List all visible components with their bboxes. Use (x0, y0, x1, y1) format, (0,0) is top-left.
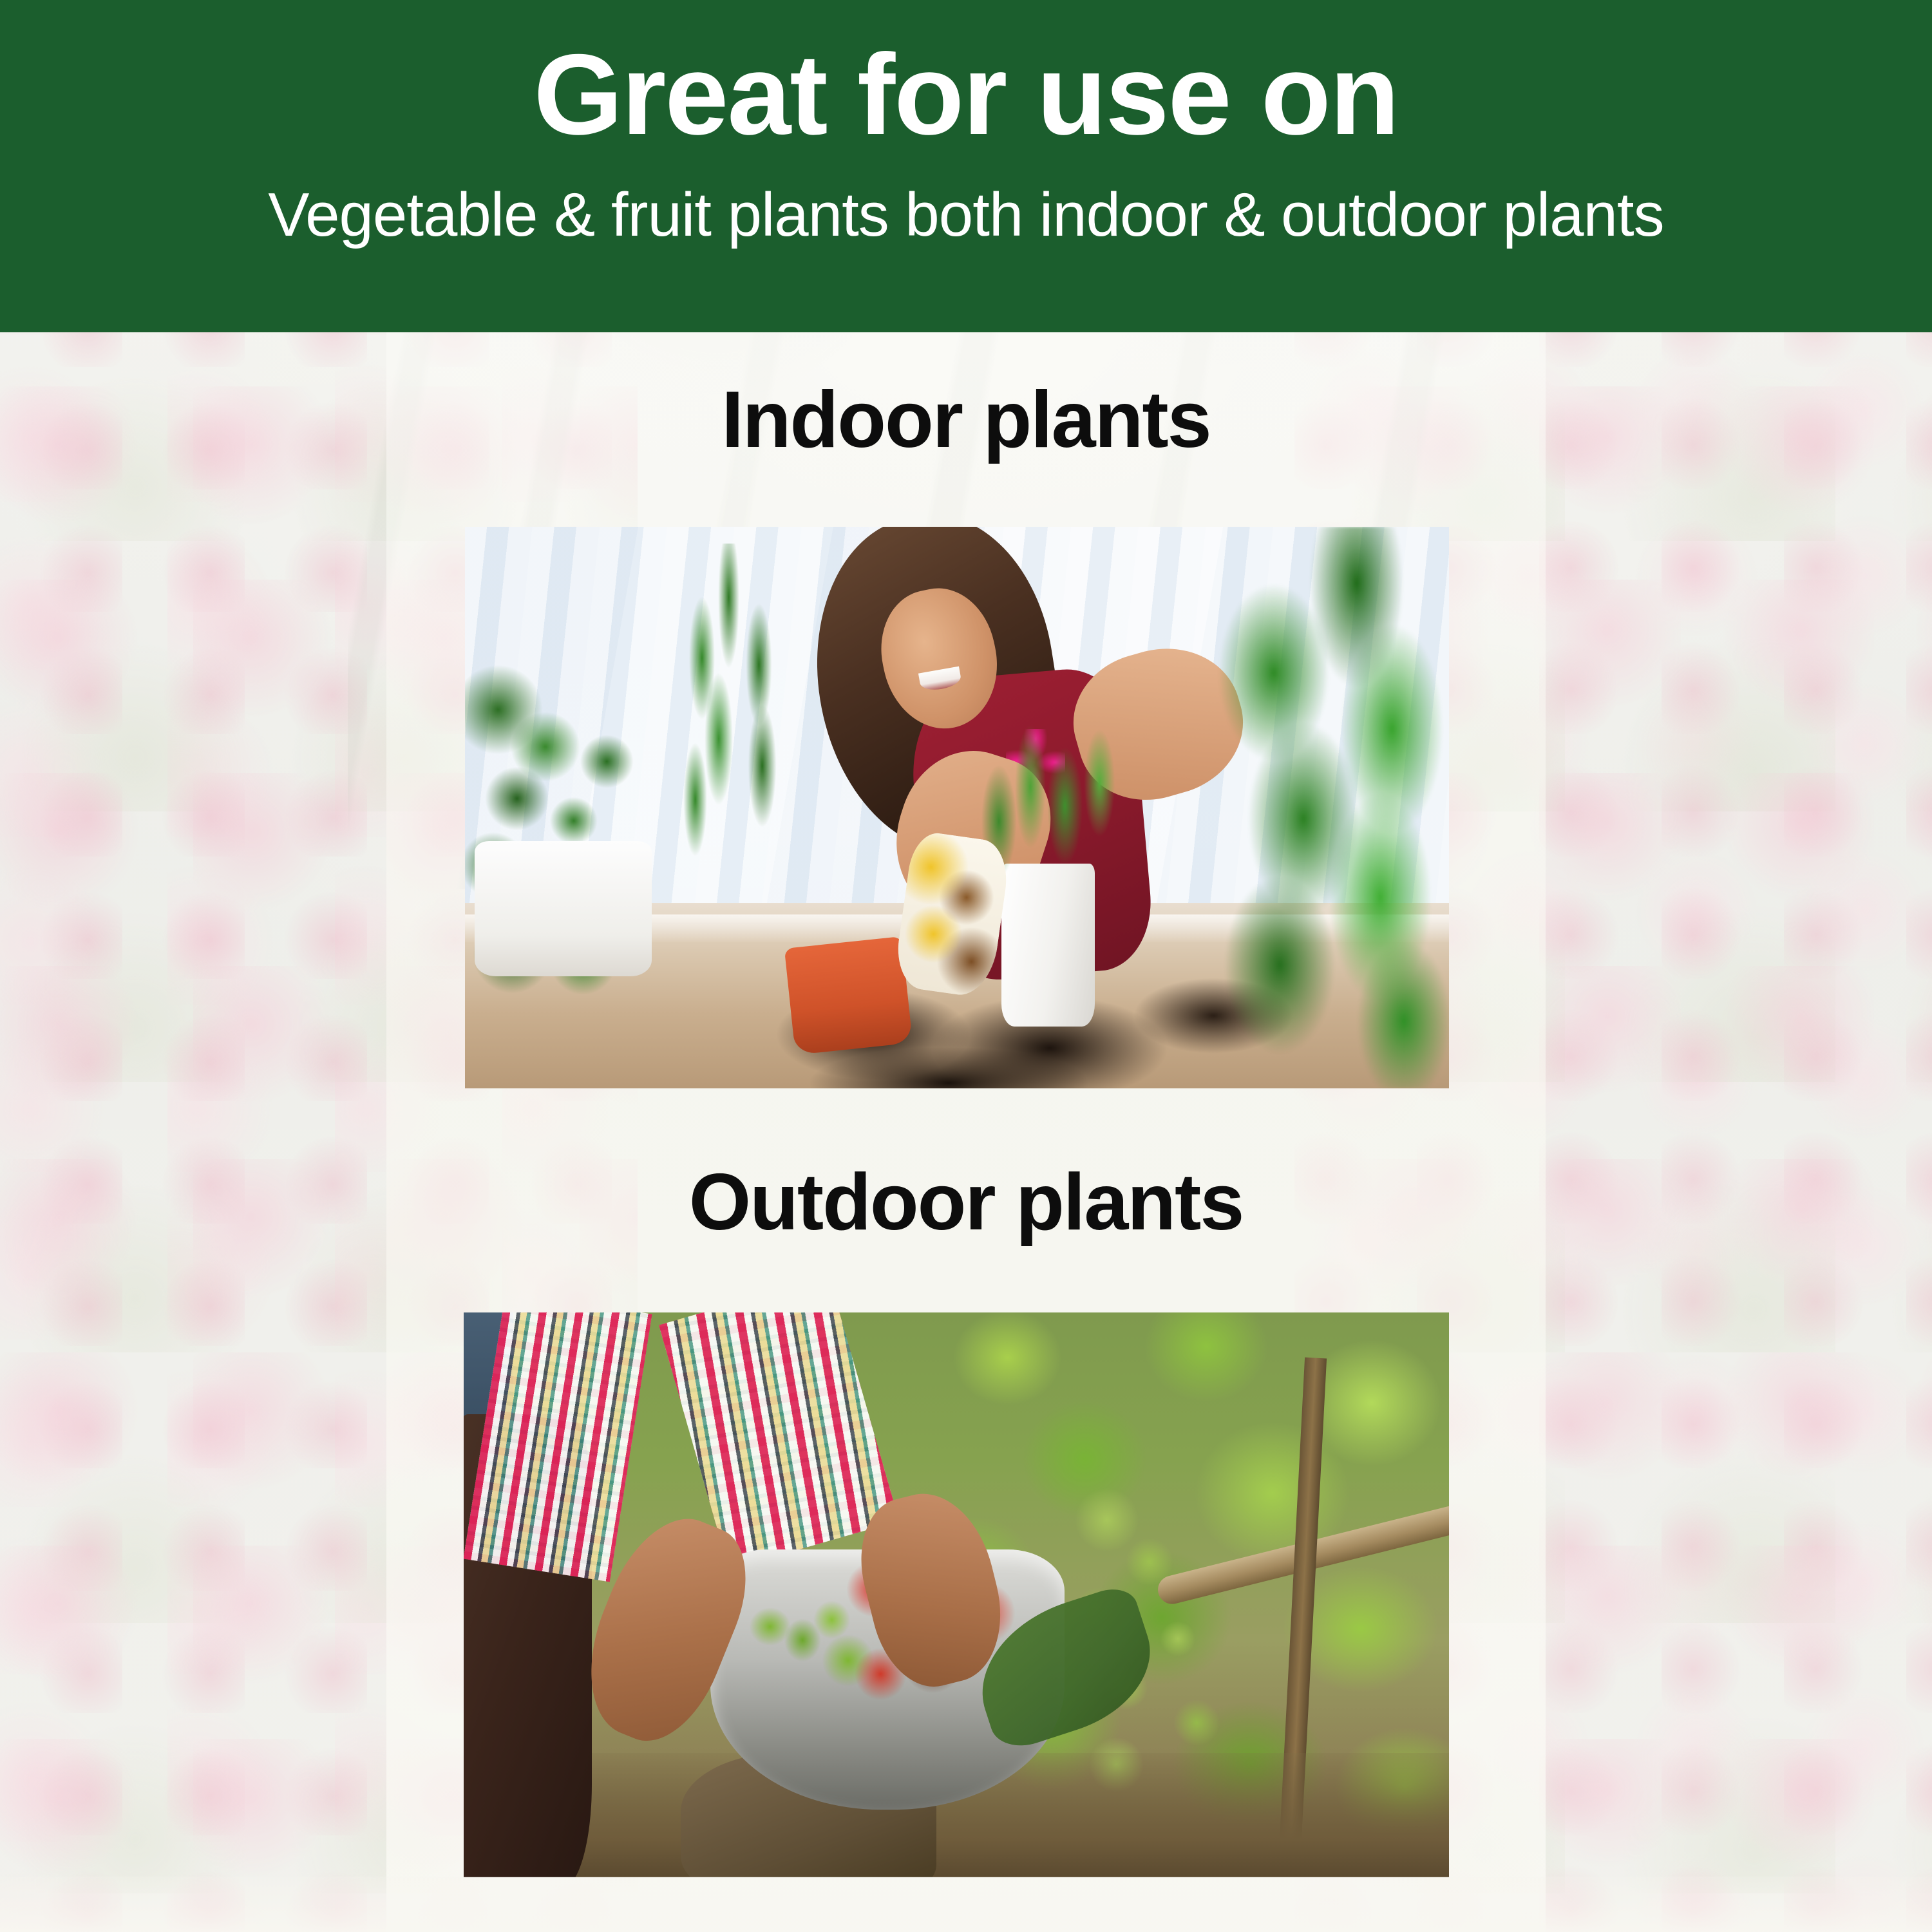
section-title-outdoor: Outdoor plants (0, 1162, 1932, 1242)
outdoor-plants-photo (464, 1312, 1449, 1877)
indoor-scene (465, 527, 1449, 1088)
header-title: Great for use on (534, 36, 1399, 153)
indoor-terracotta-pot (784, 936, 913, 1055)
indoor-foreground-plant (1173, 527, 1449, 1088)
indoor-plants-photo (465, 527, 1449, 1088)
bottom-fade-strip (0, 1877, 1932, 1932)
poster-canvas: Great for use on Vegetable & fruit plant… (0, 0, 1932, 1932)
indoor-palm-plant (652, 544, 819, 880)
header-banner: Great for use on Vegetable & fruit plant… (0, 0, 1932, 332)
outdoor-scene (464, 1312, 1449, 1877)
header-subtitle: Vegetable & fruit plants both indoor & o… (268, 183, 1663, 248)
section-title-indoor: Indoor plants (0, 380, 1932, 460)
indoor-white-mugs (475, 841, 652, 976)
